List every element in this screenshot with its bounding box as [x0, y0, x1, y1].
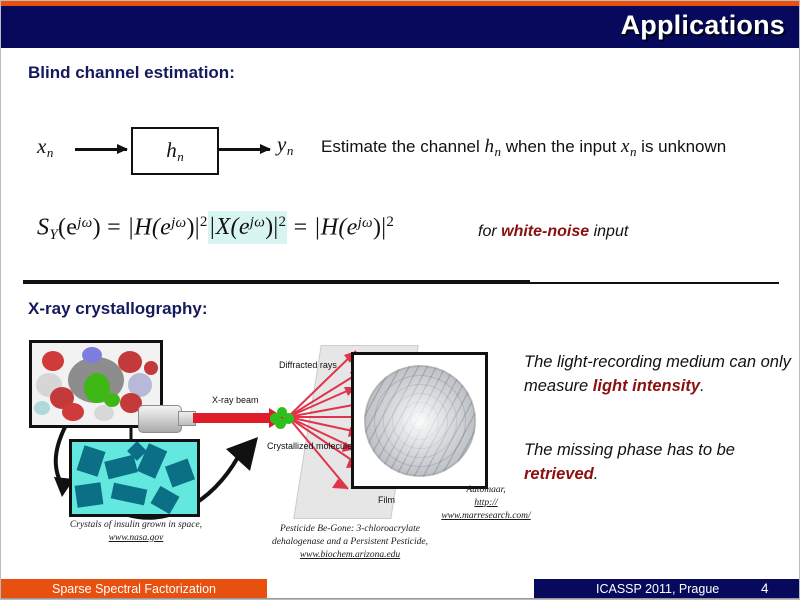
- eq-equals-2: =: [287, 214, 313, 240]
- block-var: h: [166, 138, 177, 162]
- footer-rule: [1, 598, 800, 599]
- eq-x-pow: 2: [279, 214, 287, 230]
- xray-note-1-emphasis: light intensity: [593, 377, 700, 395]
- power-spectrum-equation: SY(ejω) = |H(ejω)|2|X(ejω)|2 = |H(ejω)|2: [37, 214, 394, 244]
- xray-beam-arrow-icon: [193, 413, 270, 423]
- eq-h2-pow: 2: [386, 214, 394, 230]
- output-var-sub: n: [287, 143, 294, 158]
- arrow-input-icon: [75, 148, 127, 151]
- figure-label-film: Film: [378, 495, 395, 505]
- eq-equals-1: =: [101, 214, 127, 240]
- eq-h2-close: )|: [373, 214, 386, 240]
- xray-tube-icon: [138, 405, 182, 433]
- eq-arg-close: ): [93, 214, 101, 240]
- diffraction-disc: [364, 365, 476, 477]
- eq-arg-exp: jω: [77, 215, 92, 231]
- diagram-input-label: xn: [37, 134, 53, 161]
- system-block: hn: [131, 127, 219, 175]
- estimate-sentence: Estimate the channel hn when the input x…: [321, 136, 726, 160]
- eq-h-pow: 2: [200, 214, 208, 230]
- figure-label-diffracted-rays: Diffracted rays: [279, 360, 337, 370]
- caption-crystal-text: Crystals of insulin grown in space,: [70, 520, 202, 530]
- crystallized-molecule-icon: [270, 407, 294, 429]
- xray-crystallography-figure: X-ray beam Diffracted rays Crystallized …: [26, 337, 516, 565]
- estimate-text-part2: when the input: [501, 137, 621, 156]
- insulin-crystal-photo: [69, 439, 200, 517]
- eq-h-term: |H(e: [127, 214, 171, 240]
- eq-x-exp: jω: [250, 215, 265, 231]
- block-diagram: xn hn yn: [31, 119, 311, 179]
- caption-pesticide: Pesticide Be-Gone: 3-chloroacrylate deha…: [254, 523, 446, 561]
- xray-note-1-suffix: .: [700, 377, 705, 395]
- caption-automar-link2[interactable]: www.marresearch.com/: [441, 511, 530, 521]
- diagram-output-label: yn: [277, 132, 293, 159]
- footer-conference: ICASSP 2011, Prague: [596, 582, 719, 596]
- estimate-text-part1: Estimate the channel: [321, 137, 484, 156]
- xray-note-2-prefix: The missing phase has to be: [524, 441, 735, 459]
- estimate-text-part3: is unknown: [636, 137, 726, 156]
- xray-note-2: The missing phase has to be retrieved.: [524, 439, 792, 487]
- equation-note: for white-noise input: [478, 223, 628, 241]
- figure-label-crystallized-molecule: Crystallized molecule: [267, 441, 352, 451]
- caption-crystal: Crystals of insulin grown in space, www.…: [56, 519, 216, 545]
- figure-label-xray-beam: X-ray beam: [212, 395, 259, 405]
- block-var-sub: n: [177, 149, 184, 164]
- section-divider-thick: [23, 280, 530, 284]
- page-title: Applications: [621, 10, 785, 41]
- eq-x-term-highlight: |X(ejω)|2: [208, 211, 288, 244]
- diffraction-pattern-image: [351, 352, 488, 489]
- xray-note-1: The light-recording medium can only meas…: [524, 351, 792, 399]
- xray-note-2-suffix: .: [594, 465, 599, 483]
- equation-note-emphasis: white-noise: [501, 223, 589, 240]
- caption-automar-link1[interactable]: http://: [474, 498, 497, 508]
- eq-x-close: )|: [265, 214, 278, 240]
- arrow-output-icon: [218, 148, 270, 151]
- eq-lhs: S: [37, 214, 49, 240]
- caption-crystal-link[interactable]: www.nasa.gov: [109, 533, 164, 543]
- caption-automar: Automaar, http:// www.marresearch.com/: [426, 484, 546, 522]
- estimate-var-h: hn: [484, 136, 501, 157]
- caption-automar-text: Automaar,: [466, 485, 505, 495]
- eq-h-exp: jω: [171, 215, 186, 231]
- equation-note-suffix: input: [589, 223, 628, 240]
- footer-page-number: 4: [761, 581, 769, 596]
- section-divider-thin: [530, 282, 779, 284]
- slide: Applications Blind channel estimation: x…: [0, 0, 800, 600]
- eq-h2-exp: jω: [358, 215, 373, 231]
- section-heading-xray: X-ray crystallography:: [28, 299, 208, 319]
- eq-h2-term: |H(e: [314, 214, 358, 240]
- input-var-sub: n: [47, 145, 54, 160]
- estimate-var-x: xn: [621, 136, 636, 157]
- caption-pesticide-link[interactable]: www.biochem.arizona.edu: [300, 550, 400, 560]
- eq-lhs-sub: Y: [49, 227, 58, 243]
- footer-presentation-title: Sparse Spectral Factorization: [1, 582, 267, 596]
- eq-h-close: )|: [186, 214, 199, 240]
- section-heading-blind-channel: Blind channel estimation:: [28, 63, 235, 83]
- caption-pesticide-text: Pesticide Be-Gone: 3-chloroacrylate deha…: [272, 524, 428, 547]
- output-var: y: [277, 132, 286, 156]
- diagram-block-label: hn: [133, 138, 217, 165]
- eq-arg-open: (e: [58, 214, 77, 240]
- equation-note-prefix: for: [478, 223, 501, 240]
- xray-note-2-emphasis: retrieved: [524, 465, 594, 483]
- eq-x-term: |X(e: [209, 214, 250, 240]
- input-var: x: [37, 134, 46, 158]
